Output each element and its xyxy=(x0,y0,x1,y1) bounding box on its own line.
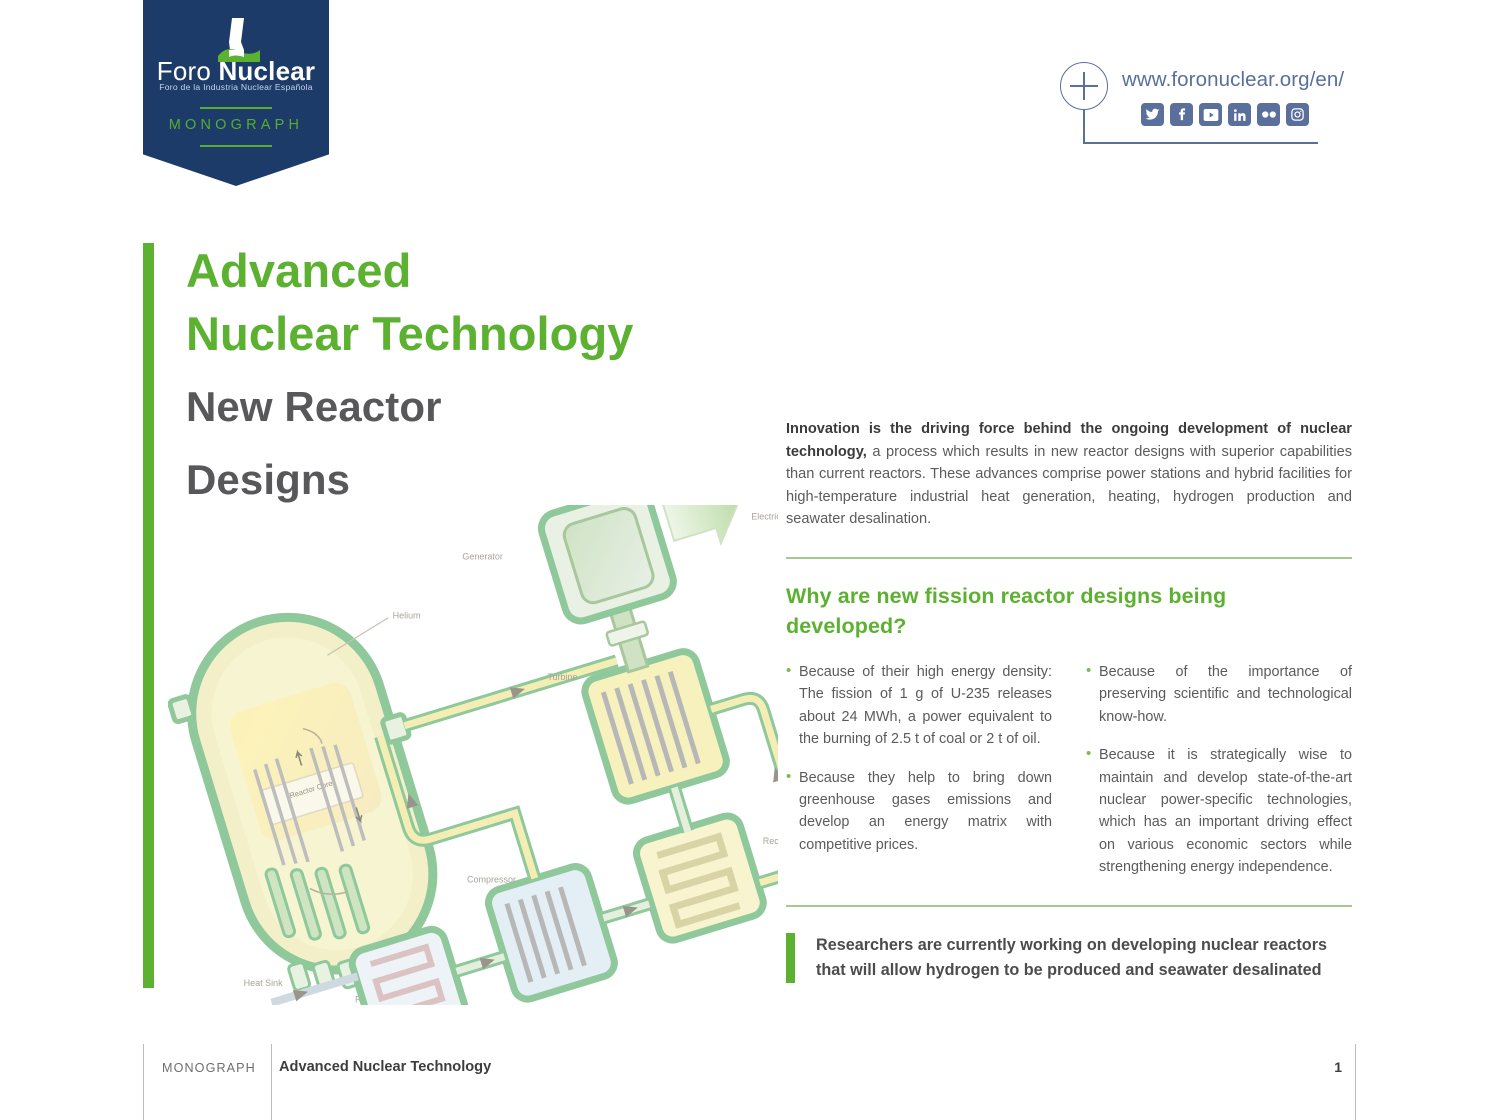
diagram-label-compressor: Compressor xyxy=(467,874,516,884)
brand-banner: Foro Nuclear Foro de la Industria Nuclea… xyxy=(143,0,329,186)
bullet-columns: Because of their high energy density: Th… xyxy=(786,661,1352,879)
web-contact-block: www.foronuclear.org/en/ xyxy=(1060,62,1360,157)
flickr-icon[interactable] xyxy=(1257,103,1280,126)
callout-accent-bar xyxy=(786,933,795,983)
badge-rule-bottom xyxy=(200,145,272,147)
social-icon-row xyxy=(1141,103,1309,126)
plus-circle-icon xyxy=(1060,62,1108,110)
page-footer: MONOGRAPH Advanced Nuclear Technology 1 xyxy=(143,1034,1356,1120)
list-item: Because of the importance of preserving … xyxy=(1086,661,1352,728)
title-green-line-2: Nuclear Technology xyxy=(186,302,826,365)
section-heading: Why are new fission reactor designs bein… xyxy=(786,581,1352,641)
list-item: Because they help to bring down greenhou… xyxy=(786,767,1052,857)
plus-stem-line xyxy=(1083,110,1085,143)
diagram-label-turbine: Turbine xyxy=(547,672,577,682)
document-page: Foro Nuclear Foro de la Industria Nuclea… xyxy=(0,0,1494,1120)
plus-underline xyxy=(1083,142,1318,144)
website-url-link[interactable]: www.foronuclear.org/en/ xyxy=(1122,68,1344,92)
title-grey-line-2: Designs xyxy=(186,449,826,511)
divider-bottom xyxy=(786,905,1352,907)
footer-divider-3 xyxy=(1355,1044,1356,1120)
diagram-label-generator: Generator xyxy=(462,552,503,562)
recuperator-unit: Recuperator xyxy=(633,793,778,943)
diagram-label-electrical-power: Electrical Power xyxy=(751,511,778,521)
electrical-power-arrow xyxy=(657,505,752,556)
instagram-icon[interactable] xyxy=(1286,103,1309,126)
intro-rest: a process which results in new reactor d… xyxy=(786,444,1352,528)
reactor-schematic-illustration: Reactor Core xyxy=(168,505,778,1005)
title-accent-bar xyxy=(143,243,154,988)
diagram-label-recuperator: Recuperator xyxy=(763,836,778,846)
footer-divider-2 xyxy=(271,1044,272,1120)
footer-document-title: Advanced Nuclear Technology xyxy=(279,1059,491,1075)
youtube-icon[interactable] xyxy=(1199,103,1222,126)
logo-tagline: Foro de la Industria Nuclear Española xyxy=(143,82,329,92)
title-green-line-1: Advanced xyxy=(186,239,826,302)
title-grey-line-1: New Reactor xyxy=(186,376,826,438)
facebook-icon[interactable] xyxy=(1170,103,1193,126)
divider-top xyxy=(786,557,1352,559)
linkedin-icon[interactable] xyxy=(1228,103,1251,126)
footer-divider-1 xyxy=(143,1044,144,1120)
list-item: Because it is strategically wise to main… xyxy=(1086,744,1352,878)
bullet-column-left: Because of their high energy density: Th… xyxy=(786,661,1052,879)
twitter-icon[interactable] xyxy=(1141,103,1164,126)
highlight-callout: Researchers are currently working on dev… xyxy=(786,933,1352,983)
article-body: Innovation is the driving force behind t… xyxy=(786,418,1352,983)
bullet-column-right: Because of the importance of preserving … xyxy=(1086,661,1352,879)
diagram-label-helium: Helium xyxy=(393,611,421,621)
badge-label: MONOGRAPH xyxy=(143,117,329,133)
compressor-unit: Compressor xyxy=(464,841,618,1005)
callout-text: Researchers are currently working on dev… xyxy=(816,933,1352,983)
intro-paragraph: Innovation is the driving force behind t… xyxy=(786,418,1352,531)
footer-monograph-label: MONOGRAPH xyxy=(162,1061,256,1075)
page-title: Advanced Nuclear Technology New Reactor … xyxy=(186,239,826,511)
footer-page-number: 1 xyxy=(1334,1059,1342,1075)
list-item: Because of their high energy density: Th… xyxy=(786,661,1052,751)
badge-rule-top xyxy=(200,107,272,109)
diagram-label-heat-sink: Heat Sink xyxy=(244,978,284,988)
